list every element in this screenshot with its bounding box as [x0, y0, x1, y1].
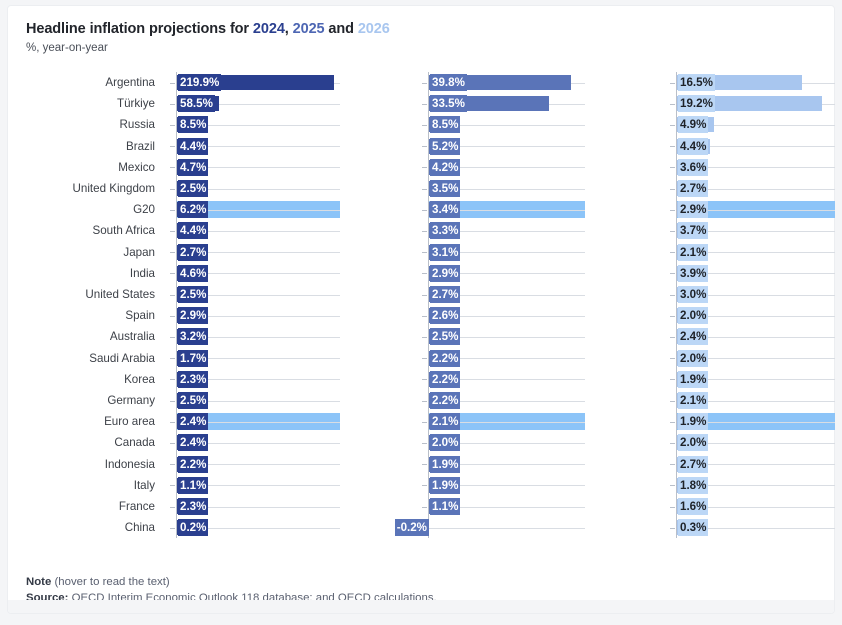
- axis-tick: [670, 507, 675, 508]
- bar-value-label: 0.2%: [178, 519, 208, 536]
- bar-value-label: 1.8%: [678, 477, 708, 494]
- panel-2024: 219.9%: [168, 72, 340, 93]
- axis-tick: [170, 231, 175, 232]
- panel-2025: 2.7%: [420, 284, 585, 305]
- axis-tick: [170, 210, 175, 211]
- bar-value-label: 2.7%: [178, 244, 208, 261]
- panel-2024: 2.7%: [168, 242, 340, 263]
- axis-tick: [670, 485, 675, 486]
- axis-tick: [170, 189, 175, 190]
- panel-2025: 4.2%: [420, 157, 585, 178]
- bar-value-label: 2.9%: [178, 307, 208, 324]
- axis-tick: [670, 337, 675, 338]
- axis-tick: [670, 252, 675, 253]
- chart-card: Headline inflation projections for 2024,…: [8, 6, 834, 613]
- panel-2026: 2.1%: [668, 242, 835, 263]
- axis-tick: [422, 83, 427, 84]
- bar-value-label: 8.5%: [178, 116, 208, 133]
- chart-row[interactable]: United States2.5%2.7%3.0%: [8, 284, 834, 305]
- axis-tick: [670, 295, 675, 296]
- panel-2024: 2.5%: [168, 284, 340, 305]
- category-label: Brazil: [8, 136, 155, 157]
- axis-tick: [422, 231, 427, 232]
- bar-value-label: 2.7%: [678, 456, 708, 473]
- bar-value-label: 1.9%: [678, 413, 708, 430]
- panel-2024: 3.2%: [168, 326, 340, 347]
- panel-2024: 2.3%: [168, 369, 340, 390]
- panel-2025: -0.2%: [420, 517, 585, 538]
- chart-row[interactable]: Saudi Arabia1.7%2.2%2.0%: [8, 348, 834, 369]
- axis-tick: [670, 422, 675, 423]
- bar-value-label: 2.4%: [678, 328, 708, 345]
- title-year-2024: 2024: [253, 21, 285, 37]
- bar-value-label: 2.0%: [678, 350, 708, 367]
- axis-tick: [670, 231, 675, 232]
- panel-2024: 2.5%: [168, 390, 340, 411]
- bar-value-label: 6.2%: [178, 201, 208, 218]
- category-label: United States: [8, 284, 155, 305]
- chart-row[interactable]: France2.3%1.1%1.6%: [8, 496, 834, 517]
- panel-2026: 3.6%: [668, 157, 835, 178]
- axis-tick: [170, 273, 175, 274]
- chart-row[interactable]: Brazil4.4%5.2%4.4%: [8, 136, 834, 157]
- panel-2024: 2.4%: [168, 432, 340, 453]
- bar-value-label: 2.4%: [178, 434, 208, 451]
- category-label: G20: [8, 199, 155, 220]
- axis-tick: [670, 379, 675, 380]
- panel-2026: 4.9%: [668, 114, 835, 135]
- bar-value-label: 1.9%: [430, 456, 460, 473]
- bar-value-label: 1.9%: [678, 371, 708, 388]
- bar-value-label: 3.5%: [430, 180, 460, 197]
- axis-tick: [170, 464, 175, 465]
- chart-row[interactable]: G206.2%3.4%2.9%: [8, 199, 834, 220]
- chart-row[interactable]: Australia3.2%2.5%2.4%: [8, 326, 834, 347]
- panel-2026: 3.7%: [668, 220, 835, 241]
- bar-value-label: 2.3%: [178, 371, 208, 388]
- axis-tick: [422, 401, 427, 402]
- panel-2025: 2.2%: [420, 390, 585, 411]
- panel-2025: 5.2%: [420, 136, 585, 157]
- title-separator-2: and: [325, 21, 358, 37]
- axis-tick: [170, 252, 175, 253]
- axis-tick: [422, 464, 427, 465]
- title-prefix: Headline inflation projections for: [26, 21, 253, 37]
- card-bottom-strip: [8, 600, 834, 613]
- panel-2026: 2.9%: [668, 199, 835, 220]
- chart-row[interactable]: Korea2.3%2.2%1.9%: [8, 369, 834, 390]
- bar-value-label: 2.3%: [178, 498, 208, 515]
- category-label: United Kingdom: [8, 178, 155, 199]
- bar-value-label: 2.2%: [430, 392, 460, 409]
- panel-2025: 3.4%: [420, 199, 585, 220]
- gridline: [428, 528, 585, 529]
- axis-tick: [170, 167, 175, 168]
- axis-tick: [422, 443, 427, 444]
- title-year-2025: 2025: [293, 21, 325, 37]
- axis-tick: [170, 528, 175, 529]
- bar-value-label: 2.0%: [678, 307, 708, 324]
- panel-2026: 2.0%: [668, 432, 835, 453]
- bar-value-label: 3.4%: [430, 201, 460, 218]
- panel-2025: 3.1%: [420, 242, 585, 263]
- panel-2026: 19.2%: [668, 93, 835, 114]
- axis-tick: [170, 337, 175, 338]
- category-label: Euro area: [8, 411, 155, 432]
- panel-2024: 4.7%: [168, 157, 340, 178]
- chart-row[interactable]: Türkiye58.5%33.5%19.2%: [8, 93, 834, 114]
- panel-2026: 1.9%: [668, 369, 835, 390]
- axis-tick: [670, 167, 675, 168]
- axis-tick: [422, 358, 427, 359]
- bar-value-label: 1.1%: [178, 477, 208, 494]
- axis-tick: [170, 485, 175, 486]
- axis-tick: [170, 125, 175, 126]
- bar-value-label: 2.2%: [430, 371, 460, 388]
- panel-2024: 2.4%: [168, 411, 340, 432]
- bar-value-label: 39.8%: [430, 74, 467, 91]
- category-label: Australia: [8, 326, 155, 347]
- panel-2025: 2.6%: [420, 305, 585, 326]
- chart-row[interactable]: Spain2.9%2.6%2.0%: [8, 305, 834, 326]
- panel-2026: 1.9%: [668, 411, 835, 432]
- bar-value-label: 2.5%: [178, 286, 208, 303]
- bar-value-label: 3.2%: [178, 328, 208, 345]
- category-label: Italy: [8, 475, 155, 496]
- bar-value-label: 1.1%: [430, 498, 460, 515]
- axis-tick: [170, 379, 175, 380]
- panel-2025: 2.9%: [420, 263, 585, 284]
- chart-row[interactable]: Russia8.5%8.5%4.9%: [8, 114, 834, 135]
- panel-2025: 1.9%: [420, 454, 585, 475]
- panel-2024: 4.4%: [168, 220, 340, 241]
- panel-2025: 33.5%: [420, 93, 585, 114]
- axis-tick: [670, 401, 675, 402]
- bar-value-label: 3.1%: [430, 244, 460, 261]
- bar-value-label: 3.9%: [678, 265, 708, 282]
- category-label: Russia: [8, 114, 155, 135]
- axis-tick: [170, 507, 175, 508]
- category-label: France: [8, 496, 155, 517]
- axis-tick: [670, 210, 675, 211]
- chart-plot-area: Argentina219.9%39.8%16.5%Türkiye58.5%33.…: [8, 72, 834, 558]
- axis-tick: [422, 273, 427, 274]
- axis-tick: [170, 443, 175, 444]
- axis-tick: [422, 485, 427, 486]
- axis-tick: [422, 507, 427, 508]
- bar-value-label: 4.7%: [178, 159, 208, 176]
- panel-2024: 2.2%: [168, 454, 340, 475]
- panel-2024: 0.2%: [168, 517, 340, 538]
- panel-2025: 2.5%: [420, 326, 585, 347]
- bar-value-label: 0.3%: [678, 519, 708, 536]
- chart-row[interactable]: India4.6%2.9%3.9%: [8, 263, 834, 284]
- panel-2025: 2.2%: [420, 348, 585, 369]
- bar-value-label: 4.2%: [430, 159, 460, 176]
- category-label: Indonesia: [8, 454, 155, 475]
- axis-tick: [170, 422, 175, 423]
- bar-value-label: -0.2%: [395, 519, 429, 536]
- axis-tick: [422, 167, 427, 168]
- chart-row[interactable]: South Africa4.4%3.3%3.7%: [8, 220, 834, 241]
- axis-tick: [422, 316, 427, 317]
- bar-value-label: 2.0%: [430, 434, 460, 451]
- panel-2025: 2.2%: [420, 369, 585, 390]
- panel-2024: 6.2%: [168, 199, 340, 220]
- title-year-2026: 2026: [358, 21, 390, 37]
- bar-value-label: 4.4%: [678, 138, 708, 155]
- bar-value-label: 2.0%: [678, 434, 708, 451]
- axis-tick: [670, 189, 675, 190]
- axis-tick: [422, 379, 427, 380]
- bar-value-label: 2.5%: [178, 180, 208, 197]
- axis-tick: [170, 401, 175, 402]
- panel-2026: 2.0%: [668, 305, 835, 326]
- panel-2025: 3.3%: [420, 220, 585, 241]
- bar-value-label: 33.5%: [430, 95, 467, 112]
- title-separator-1: ,: [285, 21, 293, 37]
- axis-tick: [170, 104, 175, 105]
- note-text[interactable]: (hover to read the text): [51, 576, 169, 588]
- category-label: Saudi Arabia: [8, 348, 155, 369]
- bar-value-label: 2.2%: [178, 456, 208, 473]
- panel-2026: 4.4%: [668, 136, 835, 157]
- panel-2024: 2.9%: [168, 305, 340, 326]
- panel-2024: 4.6%: [168, 263, 340, 284]
- bar-value-label: 2.5%: [430, 328, 460, 345]
- panel-2026: 0.3%: [668, 517, 835, 538]
- category-label: Canada: [8, 432, 155, 453]
- bar-value-label: 4.9%: [678, 116, 708, 133]
- panel-2025: 39.8%: [420, 72, 585, 93]
- category-label: India: [8, 263, 155, 284]
- bar-value-label: 4.4%: [178, 138, 208, 155]
- panel-2026: 2.7%: [668, 178, 835, 199]
- bar-value-label: 1.9%: [430, 477, 460, 494]
- bar-value-label: 4.6%: [178, 265, 208, 282]
- axis-tick: [422, 295, 427, 296]
- bar-value-label: 2.6%: [430, 307, 460, 324]
- chart-row[interactable]: Germany2.5%2.2%2.1%: [8, 390, 834, 411]
- panel-2026: 1.8%: [668, 475, 835, 496]
- bar-value-label: 2.9%: [430, 265, 460, 282]
- panel-2026: 1.6%: [668, 496, 835, 517]
- category-label: Argentina: [8, 72, 155, 93]
- bar-value-label: 3.6%: [678, 159, 708, 176]
- panel-2024: 1.1%: [168, 475, 340, 496]
- panel-2026: 2.1%: [668, 390, 835, 411]
- panel-2024: 2.3%: [168, 496, 340, 517]
- axis-tick: [670, 316, 675, 317]
- panel-2026: 16.5%: [668, 72, 835, 93]
- chart-row[interactable]: Canada2.4%2.0%2.0%: [8, 432, 834, 453]
- chart-row[interactable]: Argentina219.9%39.8%16.5%: [8, 72, 834, 93]
- chart-row[interactable]: Euro area2.4%2.1%1.9%: [8, 411, 834, 432]
- panel-2025: 3.5%: [420, 178, 585, 199]
- note-label: Note: [26, 576, 51, 588]
- bar-value-label: 2.1%: [430, 413, 460, 430]
- bar-value-label: 2.7%: [678, 180, 708, 197]
- panel-2025: 1.9%: [420, 475, 585, 496]
- bar-value-label: 16.5%: [678, 74, 715, 91]
- note-line: Note (hover to read the text): [26, 574, 824, 590]
- chart-row[interactable]: Japan2.7%3.1%2.1%: [8, 242, 834, 263]
- axis-tick: [170, 146, 175, 147]
- axis-tick: [670, 83, 675, 84]
- panel-2025: 8.5%: [420, 114, 585, 135]
- panel-2025: 1.1%: [420, 496, 585, 517]
- axis-tick: [670, 146, 675, 147]
- chart-subtitle: %, year-on-year: [26, 41, 824, 55]
- bar-value-label: 3.7%: [678, 222, 708, 239]
- axis-tick: [422, 422, 427, 423]
- bar-value-label: 2.5%: [178, 392, 208, 409]
- axis-tick: [422, 146, 427, 147]
- panel-2024: 8.5%: [168, 114, 340, 135]
- axis-tick: [670, 273, 675, 274]
- bar-value-label: 2.1%: [678, 392, 708, 409]
- bar-value-label: 219.9%: [178, 74, 221, 91]
- bar-value-label: 1.6%: [678, 498, 708, 515]
- axis-tick: [422, 104, 427, 105]
- panel-2024: 58.5%: [168, 93, 340, 114]
- axis-tick: [170, 83, 175, 84]
- chart-row[interactable]: China0.2%-0.2%0.3%: [8, 517, 834, 538]
- page-title: Headline inflation projections for 2024,…: [26, 20, 824, 38]
- bar-value-label: 2.1%: [678, 244, 708, 261]
- chart-row[interactable]: Mexico4.7%4.2%3.6%: [8, 157, 834, 178]
- axis-tick: [670, 358, 675, 359]
- axis-tick: [170, 295, 175, 296]
- axis-tick: [422, 210, 427, 211]
- axis-tick: [670, 464, 675, 465]
- bar-value-label: 58.5%: [178, 95, 215, 112]
- category-label: Türkiye: [8, 93, 155, 114]
- bar-value-label: 2.7%: [430, 286, 460, 303]
- bar-value-label: 4.4%: [178, 222, 208, 239]
- axis-tick: [422, 337, 427, 338]
- bar-value-label: 2.2%: [430, 350, 460, 367]
- category-label: China: [8, 517, 155, 538]
- category-label: Spain: [8, 305, 155, 326]
- category-label: Germany: [8, 390, 155, 411]
- panel-2025: 2.1%: [420, 411, 585, 432]
- axis-tick: [670, 528, 675, 529]
- panel-2026: 2.7%: [668, 454, 835, 475]
- chart-row[interactable]: United Kingdom2.5%3.5%2.7%: [8, 178, 834, 199]
- bar-value-label: 2.9%: [678, 201, 708, 218]
- bar-value-label: 1.7%: [178, 350, 208, 367]
- axis-tick: [422, 252, 427, 253]
- panel-2024: 1.7%: [168, 348, 340, 369]
- axis-tick: [670, 443, 675, 444]
- chart-row[interactable]: Indonesia2.2%1.9%2.7%: [8, 454, 834, 475]
- panel-2024: 4.4%: [168, 136, 340, 157]
- axis-tick: [422, 125, 427, 126]
- category-label: Korea: [8, 369, 155, 390]
- panel-2025: 2.0%: [420, 432, 585, 453]
- panel-2024: 2.5%: [168, 178, 340, 199]
- panel-2026: 2.0%: [668, 348, 835, 369]
- axis-tick: [422, 189, 427, 190]
- category-label: South Africa: [8, 220, 155, 241]
- category-label: Mexico: [8, 157, 155, 178]
- chart-header: Headline inflation projections for 2024,…: [26, 20, 824, 55]
- bar-value-label: 2.4%: [178, 413, 208, 430]
- bar-value-label: 3.3%: [430, 222, 460, 239]
- axis-tick: [170, 358, 175, 359]
- panel-2026: 2.4%: [668, 326, 835, 347]
- panel-2026: 3.9%: [668, 263, 835, 284]
- panel-2026: 3.0%: [668, 284, 835, 305]
- axis-tick: [670, 125, 675, 126]
- bar-value-label: 8.5%: [430, 116, 460, 133]
- axis-tick: [170, 316, 175, 317]
- chart-row[interactable]: Italy1.1%1.9%1.8%: [8, 475, 834, 496]
- bar-value-label: 3.0%: [678, 286, 708, 303]
- axis-tick: [670, 104, 675, 105]
- bar-value-label: 19.2%: [678, 95, 715, 112]
- bar-value-label: 5.2%: [430, 138, 460, 155]
- category-label: Japan: [8, 242, 155, 263]
